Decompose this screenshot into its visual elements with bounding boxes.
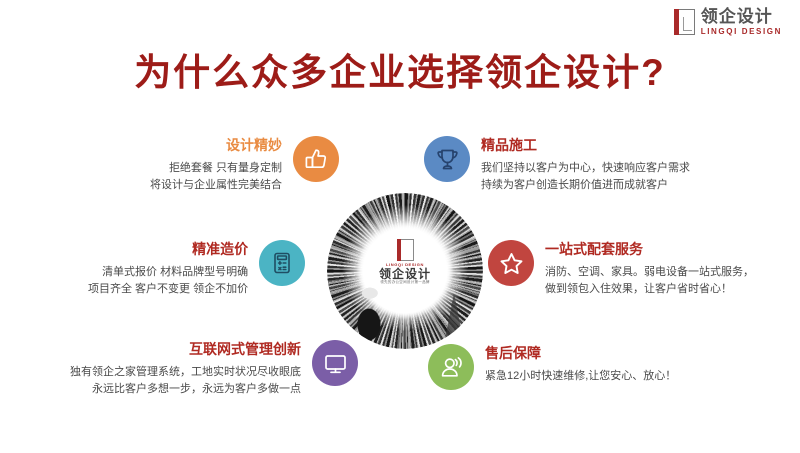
- feature-onestop-line-1: 消防、空调、家具。弱电设备一站式服务，: [545, 264, 754, 281]
- feature-service[interactable]: 售后保障 紧急12小时快速维修,让您安心、放心！: [428, 344, 676, 390]
- lingqi-bracket-logo-icon: [674, 9, 695, 35]
- feature-service-text: 售后保障 紧急12小时快速维修,让您安心、放心！: [485, 344, 676, 385]
- feature-internet-line-2: 永远比客户多想一步，永远为客户多做一点: [70, 381, 301, 398]
- feature-cost[interactable]: 精准造价 清单式报价 材料品牌型号明确 项目齐全 客户不变更 领企不加价: [88, 240, 305, 298]
- star-icon: [488, 240, 534, 286]
- feature-design-line-2: 将设计与企业属性完美结合: [150, 177, 282, 194]
- feature-onestop[interactable]: 一站式配套服务 消防、空调、家具。弱电设备一站式服务， 做到领包入住效果，让客户…: [488, 240, 754, 298]
- trophy-icon: [424, 136, 470, 182]
- feature-cost-title: 精准造价: [88, 240, 248, 259]
- feature-build-line-2: 持续为客户创造长期价值进而成就客户: [481, 177, 690, 194]
- brand-logo: 领企设计 LINGQI DESIGN: [674, 8, 782, 36]
- feature-build-line-1: 我们坚持以客户为中心，快速响应客户需求: [481, 160, 690, 177]
- feature-cost-text: 精准造价 清单式报价 材料品牌型号明确 项目齐全 客户不变更 领企不加价: [88, 240, 248, 298]
- feature-service-title: 售后保障: [485, 344, 676, 363]
- feature-build-text: 精品施工 我们坚持以客户为中心，快速响应客户需求 持续为客户创造长期价值进而成就…: [481, 136, 690, 194]
- feature-build-title: 精品施工: [481, 136, 690, 155]
- brand-name-en: LINGQI DESIGN: [701, 28, 782, 36]
- center-circular-photo: LINGQI DESIGN 领企设计 领先的办公空间设计第一品牌: [327, 193, 483, 349]
- feature-service-line-1: 紧急12小时快速维修,让您安心、放心！: [485, 368, 676, 385]
- monitor-icon: [312, 340, 358, 386]
- center-bracket-logo-icon: [397, 239, 414, 261]
- calculator-icon: [259, 240, 305, 286]
- feature-design-title: 设计精妙: [150, 136, 282, 155]
- slide-canvas: 领企设计 LINGQI DESIGN 为什么众多企业选择领企设计? LINGQI…: [0, 0, 800, 453]
- tower-silhouette: [445, 293, 463, 339]
- customer-service-person-icon: [428, 344, 474, 390]
- feature-cost-line-2: 项目齐全 客户不变更 领企不加价: [88, 281, 248, 298]
- feature-build[interactable]: 精品施工 我们坚持以客户为中心，快速响应客户需求 持续为客户创造长期价值进而成就…: [424, 136, 690, 194]
- feature-design[interactable]: 设计精妙 拒绝套餐 只有量身定制 将设计与企业属性完美结合: [150, 136, 339, 194]
- worker-silhouette: [347, 285, 391, 343]
- feature-internet-text: 互联网式管理创新 独有领企之家管理系统，工地实时状况尽收眼底 永远比客户多想一步…: [70, 340, 301, 398]
- feature-onestop-line-2: 做到领包入住效果，让客户省时省心！: [545, 281, 754, 298]
- brand-logo-text: 领企设计 LINGQI DESIGN: [701, 8, 782, 36]
- page-title: 为什么众多企业选择领企设计?: [0, 42, 800, 96]
- feature-design-text: 设计精妙 拒绝套餐 只有量身定制 将设计与企业属性完美结合: [150, 136, 282, 194]
- feature-design-line-1: 拒绝套餐 只有量身定制: [150, 160, 282, 177]
- feature-cost-line-1: 清单式报价 材料品牌型号明确: [88, 264, 248, 281]
- feature-onestop-text: 一站式配套服务 消防、空调、家具。弱电设备一站式服务， 做到领包入住效果，让客户…: [545, 240, 754, 298]
- feature-internet-line-1: 独有领企之家管理系统，工地实时状况尽收眼底: [70, 364, 301, 381]
- feature-onestop-title: 一站式配套服务: [545, 240, 754, 259]
- brand-name-cn: 领企设计: [701, 8, 782, 25]
- thumbs-up-icon: [293, 136, 339, 182]
- feature-internet-title: 互联网式管理创新: [70, 340, 301, 359]
- feature-internet[interactable]: 互联网式管理创新 独有领企之家管理系统，工地实时状况尽收眼底 永远比客户多想一步…: [70, 340, 358, 398]
- center-brand-logo: LINGQI DESIGN 领企设计 领先的办公空间设计第一品牌: [327, 239, 483, 285]
- center-brand-tagline: 领先的办公空间设计第一品牌: [327, 281, 483, 285]
